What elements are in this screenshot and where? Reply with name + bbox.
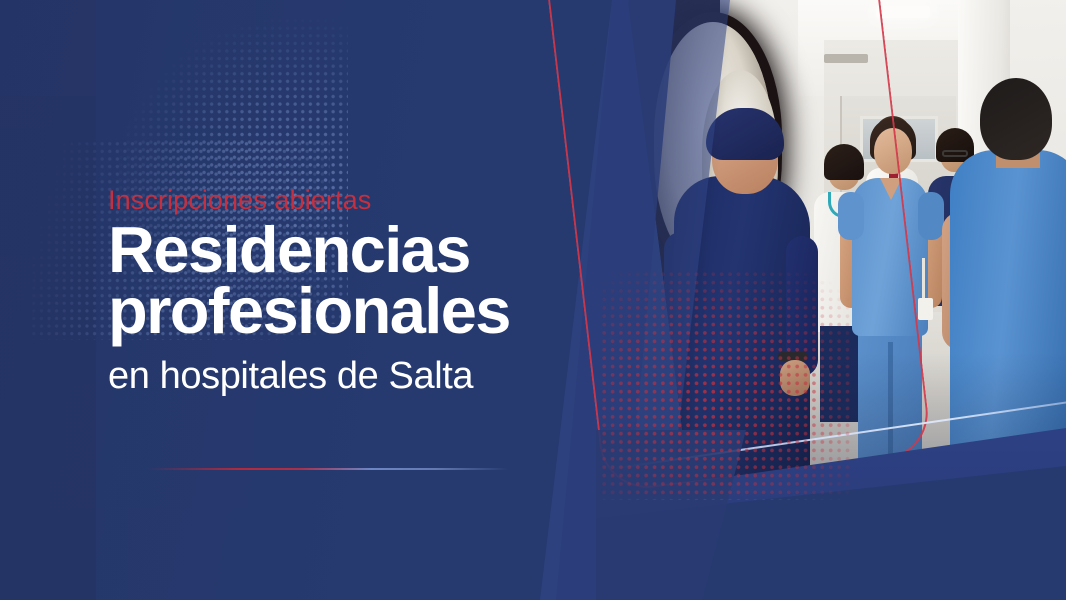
copy-block: Inscripciones abiertas Residencias profe… [108, 186, 588, 398]
headline-line-2: profesionales [108, 281, 588, 341]
kicker-text: Inscripciones abiertas [108, 186, 588, 214]
subheadline-text: en hospitales de Salta [108, 355, 588, 398]
divider-rule [148, 468, 508, 470]
page-title: Residencias profesionales [108, 220, 588, 341]
promo-banner: Inscripciones abiertas Residencias profe… [0, 0, 1066, 600]
